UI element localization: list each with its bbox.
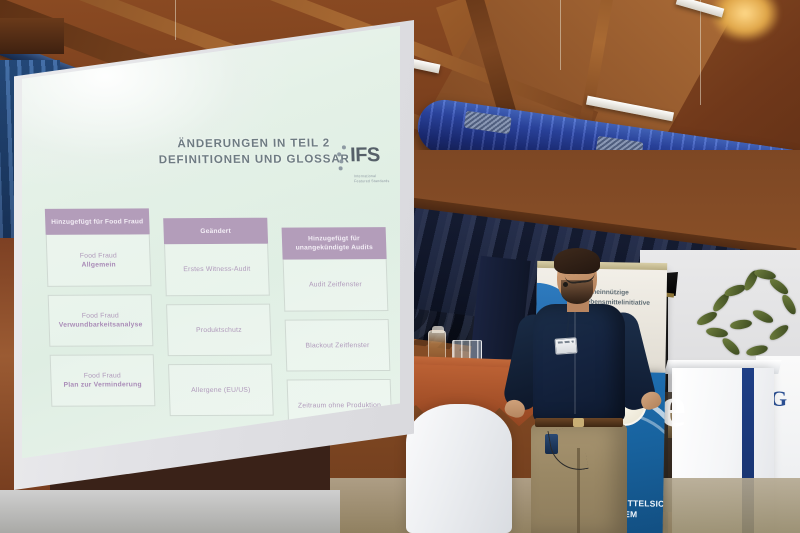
ifs-logo-dots-icon [337, 145, 351, 171]
cell-line2: Allgemein [80, 260, 117, 269]
duct-vent-grille [464, 111, 512, 134]
headset-microphone-tip [563, 282, 568, 287]
cell-line1: Erstes Witness-Audit [183, 265, 250, 274]
ceiling-hanger-wire [175, 0, 176, 40]
slide-column-2: Geändert Erstes Witness-Audit Produktsch… [163, 218, 274, 424]
table-cell: Food Fraud Allgemein [46, 234, 152, 287]
table-cell: Food Fraud Verwundbarkeitsanalyse [48, 294, 154, 347]
table-cell: Food Fraud Plan zur Verminderung [50, 354, 156, 407]
shirt-placket [574, 310, 576, 414]
cell-line1: Produktschutz [196, 325, 242, 334]
rafter-beam-left [0, 18, 64, 54]
ifs-logo-sub2: Featured Standards [354, 179, 400, 184]
cell-line1: Food Fraud [63, 371, 142, 380]
slide-title: Änderungen in Teil 2 Definitionen und Gl… [138, 135, 369, 168]
cell-line2: Plan zur Verminderung [63, 380, 142, 389]
slide-title-line1: Änderungen in Teil 2 [138, 135, 369, 152]
slide-column-1: Hinzugefügt für Food Fraud Food Fraud Al… [45, 208, 156, 414]
slide-title-line2: Definitionen und Glossar [139, 151, 370, 168]
cell-line1: Allergene (EU/US) [191, 385, 251, 394]
speaker-shirt [533, 304, 625, 422]
ceiling-hanger-wire [700, 0, 701, 105]
ifs-logo: IFS International Featured Standards [337, 145, 400, 183]
slide-column-2-header: Geändert [163, 218, 268, 245]
slide-column-3-header: Hinzugefügt für unangekündigte Audits [282, 227, 387, 260]
chair-cover [406, 404, 512, 533]
speaker-hair [554, 248, 600, 274]
table-cell: Allergene (EU/US) [168, 364, 274, 417]
name-badge [554, 337, 577, 354]
table-cell: Audit Zeitfenster [283, 259, 389, 312]
ceiling-hanger-wire [560, 0, 561, 70]
ifs-wordmark: IFS [350, 145, 380, 165]
ceiling-lamp-glow [710, 0, 780, 42]
cell-line1: Food Fraud [80, 251, 117, 260]
table-cell: Blackout Zeitfenster [285, 319, 391, 372]
potted-plant [690, 268, 800, 364]
presentation-slide: Änderungen in Teil 2 Definitionen und Gl… [22, 24, 400, 460]
cell-line1: Food Fraud [58, 311, 142, 320]
cell-line1: Blackout Zeitfenster [305, 341, 369, 350]
cell-line2: Verwundbarkeitsanalyse [59, 320, 143, 329]
conference-room-photo: G gemeinnützige Lebensmittelinitiative Ö… [0, 0, 800, 533]
projection-screen-surface: Änderungen in Teil 2 Definitionen und Gl… [22, 24, 400, 460]
table-cell: Erstes Witness-Audit [164, 244, 270, 297]
speaker-presenter [505, 252, 675, 533]
slide-column-1-header: Hinzugefügt für Food Fraud [45, 208, 150, 235]
cell-line1: Audit Zeitfenster [309, 280, 362, 289]
table-cell: Produktschutz [166, 304, 272, 357]
floor-left [0, 490, 340, 533]
slide-table: Hinzugefügt für Food Fraud Food Fraud Al… [45, 201, 385, 203]
